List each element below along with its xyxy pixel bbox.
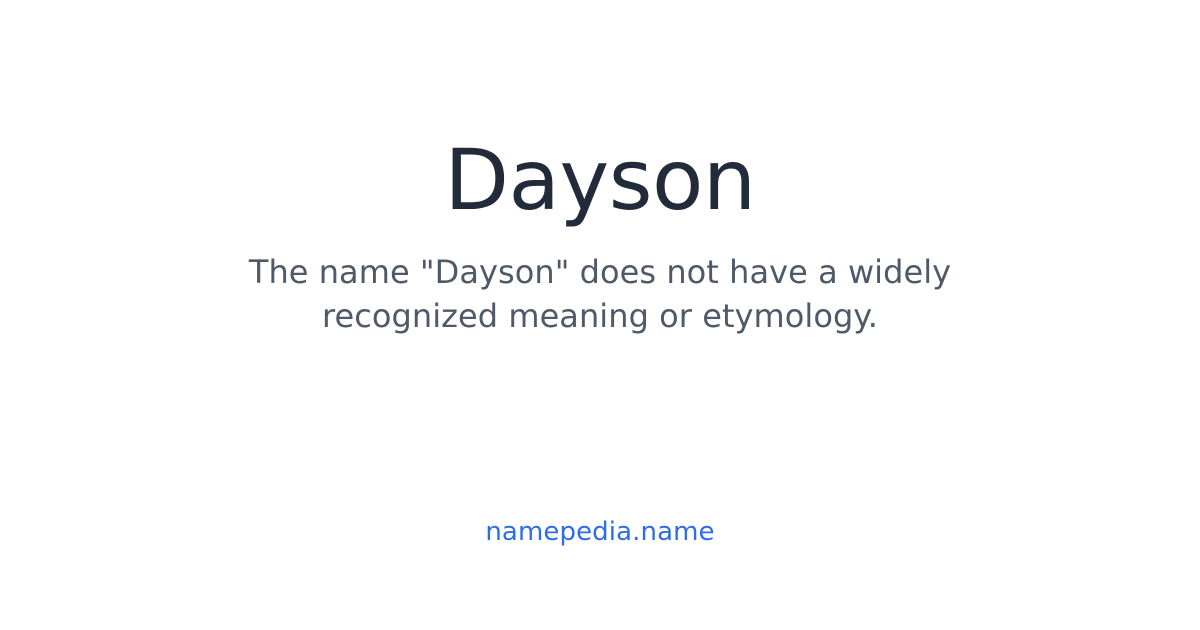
name-description: The name "Dayson" does not have a widely… [180, 250, 1020, 338]
name-info-card: Dayson The name "Dayson" does not have a… [0, 0, 1200, 630]
card-footer: namepedia.name [0, 470, 1200, 630]
page-title: Dayson [444, 132, 755, 228]
site-link[interactable]: namepedia.name [485, 516, 714, 548]
card-content: Dayson The name "Dayson" does not have a… [0, 0, 1200, 470]
